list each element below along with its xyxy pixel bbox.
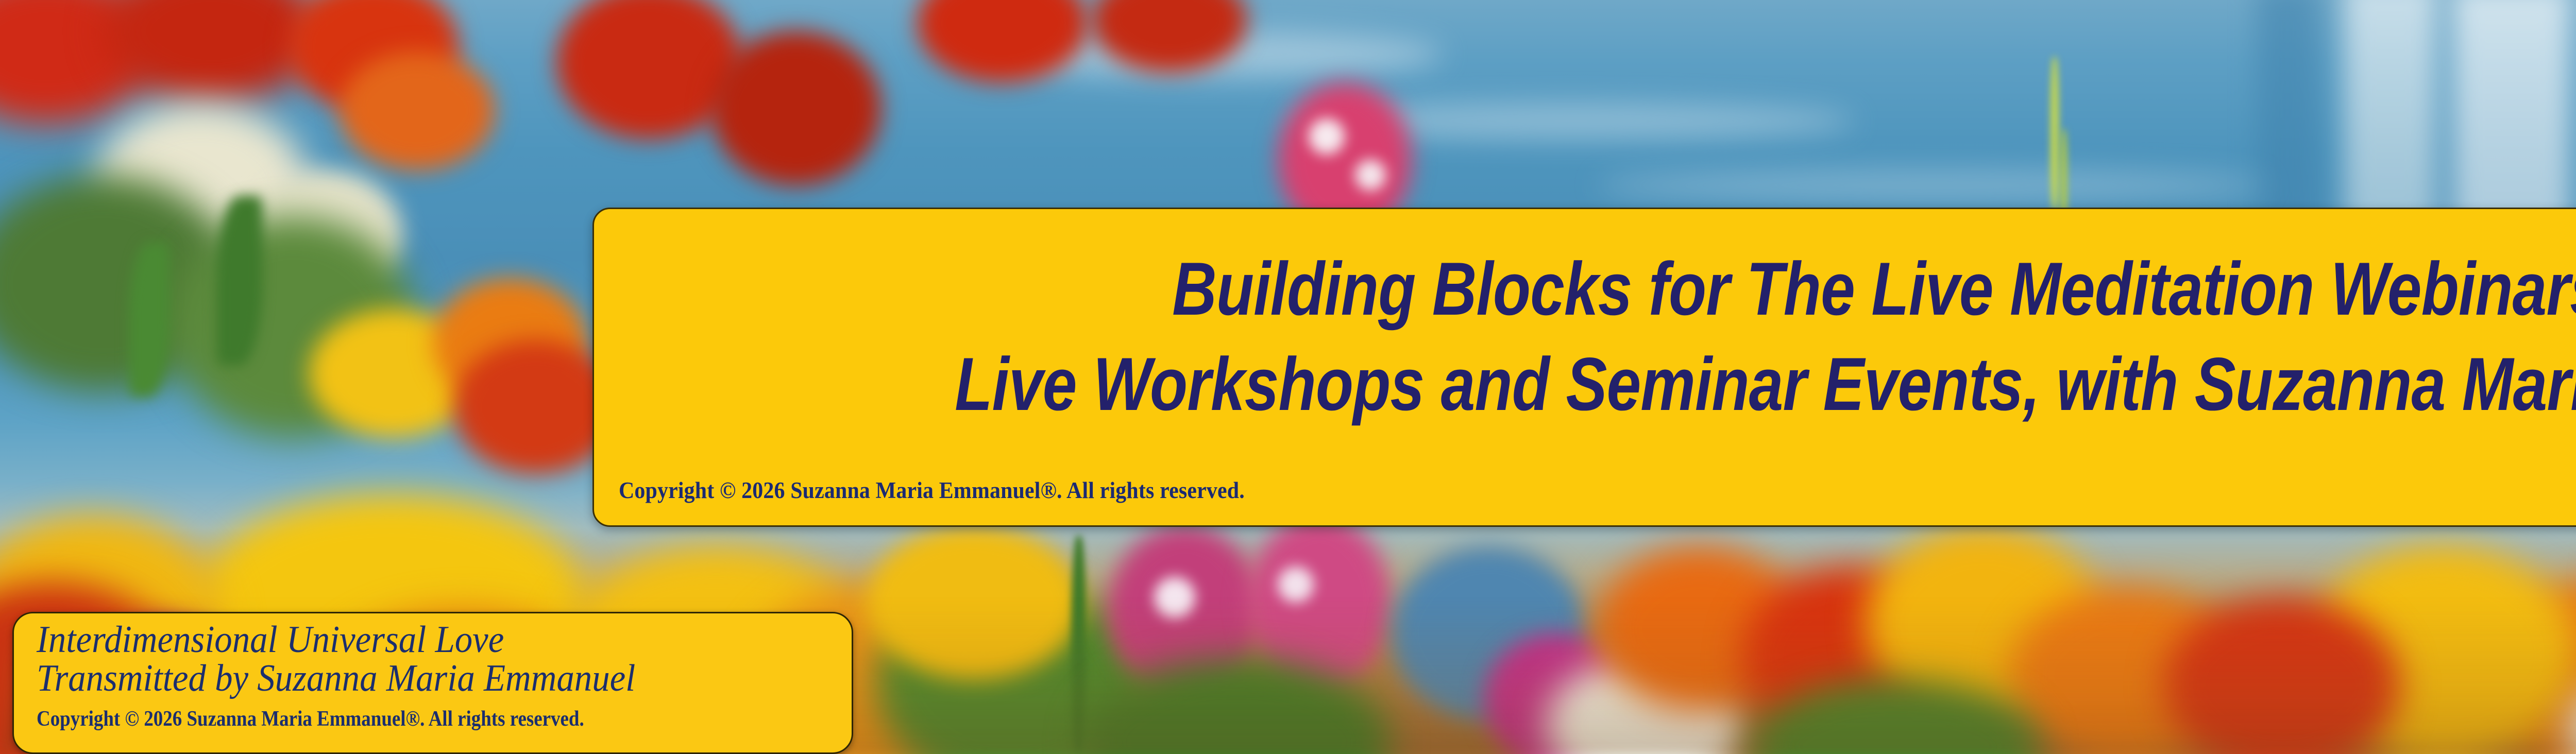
flower-white-accent: [1278, 567, 1314, 603]
title-copyright-notice: Copyright © 2026 Suzanna Maria Emmanuel®…: [619, 477, 1245, 504]
title-panel: Building Blocks for The Live Meditation …: [592, 208, 2576, 527]
title-line-2: Live Workshops and Seminar Events, with …: [838, 336, 2576, 432]
left-badge-line-2: Transmitted by Suzanna Maria Emmanuel: [37, 659, 794, 698]
flower-orange: [340, 52, 495, 170]
grass-blade: [2050, 57, 2059, 211]
leaf: [129, 242, 170, 397]
leaf: [216, 196, 263, 366]
banner-image: Building Blocks for The Live Meditation …: [0, 0, 2576, 754]
left-badge-line-1: Interdimensional Universal Love: [37, 621, 794, 659]
flower-red: [711, 31, 881, 185]
flower-white-accent: [1355, 160, 1386, 191]
left-badge: Interdimensional Universal Love Transmit…: [12, 612, 853, 754]
left-badge-copyright-notice: Copyright © 2026 Suzanna Maria Emmanuel®…: [37, 707, 754, 731]
flower-white-accent: [1309, 118, 1345, 155]
water-reflection: [1597, 170, 2267, 201]
title-line-1: Building Blocks for The Live Meditation …: [838, 241, 2576, 336]
